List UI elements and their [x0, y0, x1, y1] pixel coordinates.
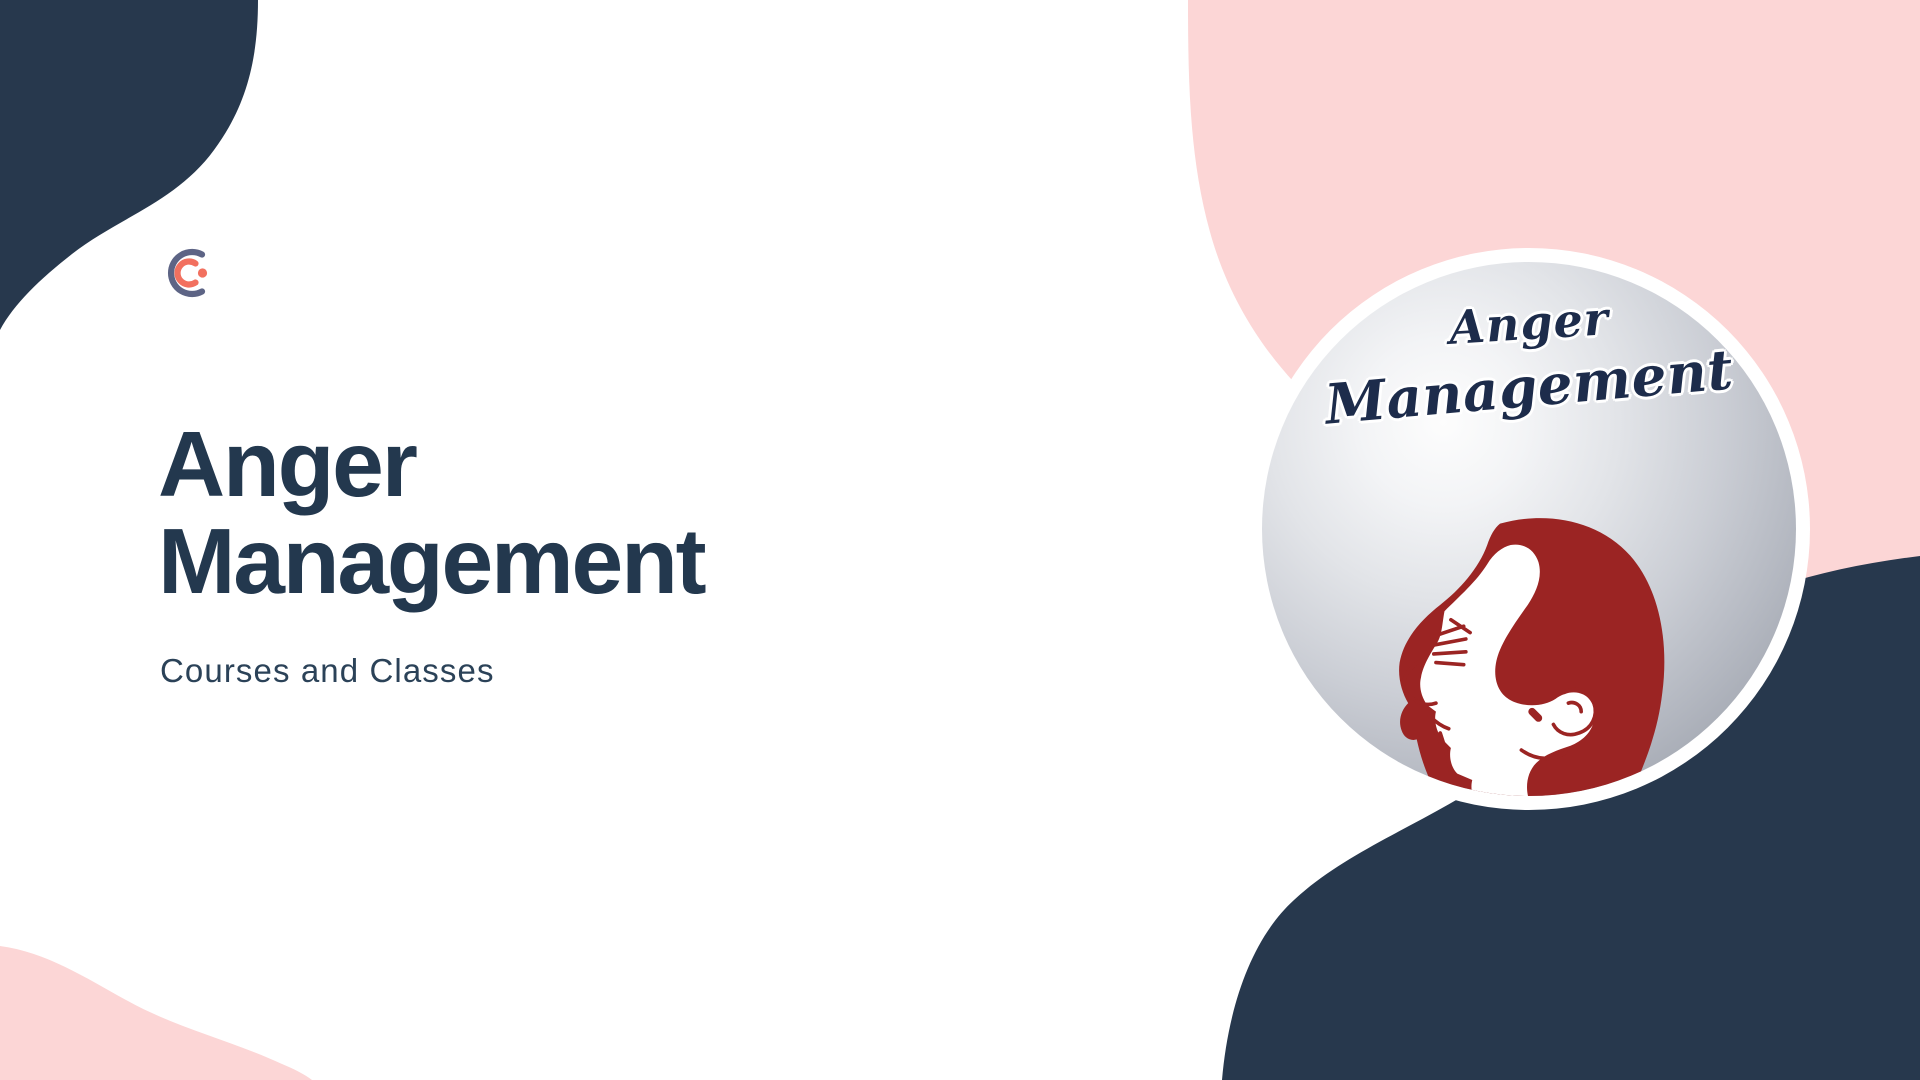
concentric-c-logo-icon — [158, 244, 216, 302]
anger-management-badge: Anger Management — [1248, 248, 1810, 810]
badge-script-line-1: Anger — [1262, 280, 1796, 366]
badge-silver-disc: Anger Management — [1262, 262, 1796, 796]
blob-bottom-left — [0, 946, 312, 1080]
slide-content: Anger Management Courses and Classes — [158, 244, 1058, 302]
badge-script-text: Anger Management — [1262, 296, 1796, 419]
page-subtitle: Courses and Classes — [160, 652, 495, 690]
badge-inner-content: Anger Management — [1262, 262, 1796, 796]
badge-script-line-2: Management — [1262, 331, 1796, 442]
shouting-head-profile-icon — [1374, 513, 1694, 796]
page-title: Anger Management — [158, 416, 1058, 609]
headline-block: Anger Management — [158, 416, 1058, 609]
slide-canvas: Anger Management Courses and Classes Ang… — [0, 0, 1920, 1080]
